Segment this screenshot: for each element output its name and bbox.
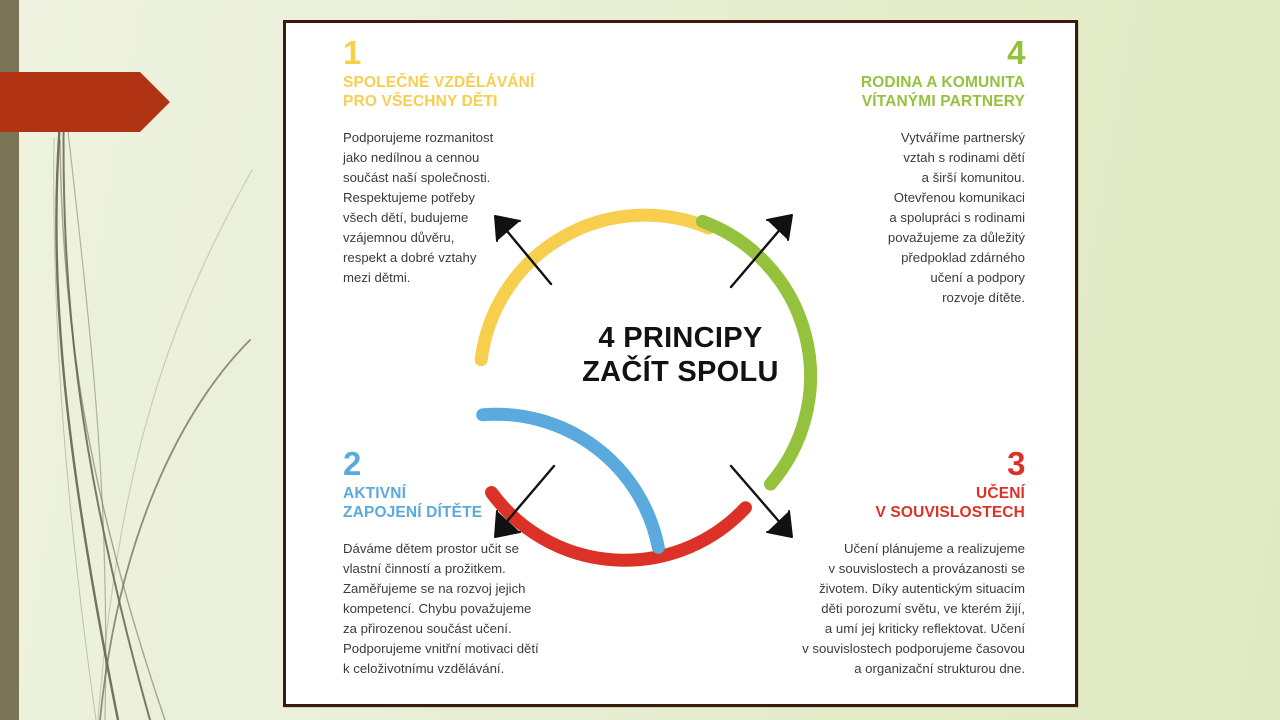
principle-body-4: Vytváříme partnerský vztah s rodinami dě…	[798, 128, 1025, 309]
principle-number-4: 4	[798, 36, 1025, 69]
content-frame: 1 SPOLEČNÉ VZDĚLÁVÁNÍ PRO VŠECHNY DĚTI P…	[283, 20, 1078, 707]
principle-heading-4: RODINA A KOMUNITA VÍTANÝMI PARTNERY	[798, 73, 1025, 112]
principle-number-1: 1	[343, 36, 573, 69]
principle-heading-1: SPOLEČNÉ VZDĚLÁVÁNÍ PRO VŠECHNY DĚTI	[343, 73, 573, 112]
principle-body-1: Podporujeme rozmanitost jako nedílnou a …	[343, 128, 573, 289]
presentation-slide: 1 SPOLEČNÉ VZDĚLÁVÁNÍ PRO VŠECHNY DĚTI P…	[0, 0, 1280, 720]
banner-arrow-shape	[0, 72, 170, 132]
principle-block-1: 1 SPOLEČNÉ VZDĚLÁVÁNÍ PRO VŠECHNY DĚTI P…	[343, 36, 573, 288]
principle-block-2: 2 AKTIVNÍ ZAPOJENÍ DÍTĚTE Dáváme dětem p…	[343, 447, 588, 679]
principle-body-3: Učení plánujeme a realizujeme v souvislo…	[778, 539, 1025, 679]
principle-heading-3: UČENÍ V SOUVISLOSTECH	[778, 484, 1025, 523]
principle-heading-2: AKTIVNÍ ZAPOJENÍ DÍTĚTE	[343, 484, 588, 523]
principle-number-2: 2	[343, 447, 588, 480]
principle-body-2: Dáváme dětem prostor učit se vlastní čin…	[343, 539, 588, 679]
principle-block-3: 3 UČENÍ V SOUVISLOSTECH Učení plánujeme …	[778, 447, 1025, 679]
principle-block-4: 4 RODINA A KOMUNITA VÍTANÝMI PARTNERY Vy…	[798, 36, 1025, 308]
arc-green-segment	[702, 221, 810, 484]
principle-number-3: 3	[778, 447, 1025, 480]
frame-inner: 1 SPOLEČNÉ VZDĚLÁVÁNÍ PRO VŠECHNY DĚTI P…	[286, 23, 1075, 704]
